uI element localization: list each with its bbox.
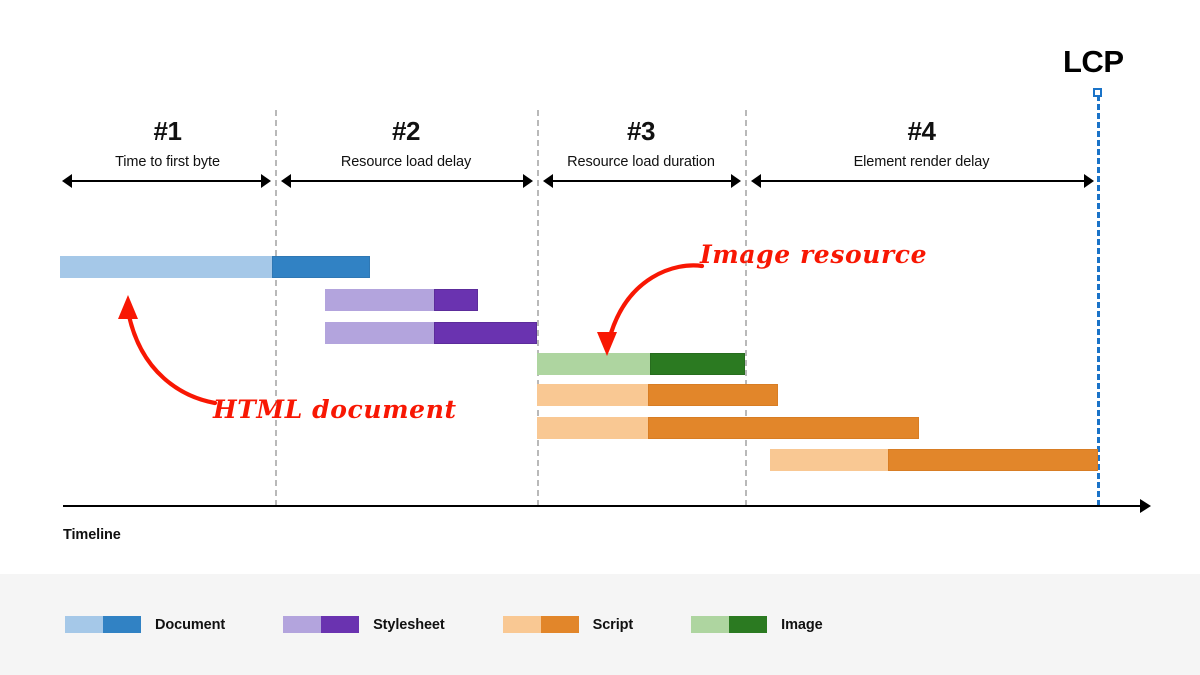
legend-swatch-light [503,616,541,633]
legend-swatch-document [65,616,141,633]
legend-item-document[interactable]: Document [65,616,225,633]
legend-swatch-dark [541,616,579,633]
legend-swatch-dark [103,616,141,633]
phase-3-span-arrow [543,174,741,188]
bar-segment-light [537,417,648,439]
phase-3-name: Resource load duration [537,155,745,171]
image-resource-annotation-text: Image resource [700,240,927,269]
phase-3-number: #3 [537,118,745,144]
arrow-shaft [758,180,1087,182]
arrow-shaft [69,180,264,182]
arrow-head-right-icon [731,174,741,188]
bar-segment-light [325,322,434,344]
phase-4: #4 Element render delay [745,118,1098,171]
bar-segment-light [325,289,434,311]
arrow-head-right-icon [523,174,533,188]
phase-2-number: #2 [275,118,537,144]
phase-2-span-arrow [281,174,533,188]
bar-segment-dark [648,384,778,406]
arrow-shaft [550,180,734,182]
legend-swatch-stylesheet [283,616,359,633]
timeline-axis [63,505,1140,507]
timeline-arrow-head-icon [1140,499,1151,513]
bar-script-1 [537,384,778,406]
arrow-shaft [288,180,526,182]
timeline-label: Timeline [63,527,121,543]
legend-swatch-script [503,616,579,633]
bar-segment-dark [434,322,537,344]
phase-1-span-arrow [62,174,271,188]
phase-2-name: Resource load delay [275,155,537,171]
legend: Document Stylesheet Script Image [65,616,881,633]
legend-swatch-light [283,616,321,633]
bar-segment-dark [434,289,478,311]
phase-1: #1 Time to first byte [60,118,275,171]
lcp-label: LCP [1063,46,1124,77]
legend-label-stylesheet: Stylesheet [373,617,445,633]
legend-swatch-light [691,616,729,633]
legend-swatch-dark [321,616,359,633]
bar-document-1 [60,256,370,278]
bar-segment-dark [272,256,370,278]
bar-segment-light [60,256,272,278]
image-resource-annotation-arrow [580,258,710,368]
bar-script-2 [537,417,919,439]
arrow-head-right-icon [1084,174,1094,188]
bar-stylesheet-1 [325,289,478,311]
legend-item-image[interactable]: Image [691,616,822,633]
legend-swatch-image [691,616,767,633]
bar-script-3 [770,449,1098,471]
phase-1-name: Time to first byte [60,155,275,171]
phase-4-name: Element render delay [745,155,1098,171]
phase-4-number: #4 [745,118,1098,144]
legend-swatch-dark [729,616,767,633]
diagram-canvas: LCP #1 Time to first byte #2 Resource lo… [0,0,1200,675]
legend-item-script[interactable]: Script [503,616,634,633]
legend-swatch-light [65,616,103,633]
bar-segment-light [770,449,888,471]
phase-4-span-arrow [751,174,1094,188]
bar-segment-dark [888,449,1098,471]
bar-segment-dark [648,417,919,439]
legend-label-document: Document [155,617,225,633]
legend-label-image: Image [781,617,822,633]
phase-2: #2 Resource load delay [275,118,537,171]
arrow-head-right-icon [261,174,271,188]
phase-1-number: #1 [60,118,275,144]
phase-3: #3 Resource load duration [537,118,745,171]
bar-segment-light [537,384,648,406]
legend-item-stylesheet[interactable]: Stylesheet [283,616,445,633]
bar-stylesheet-2 [325,322,537,344]
legend-label-script: Script [593,617,634,633]
html-document-annotation-text: HTML document [213,395,457,424]
